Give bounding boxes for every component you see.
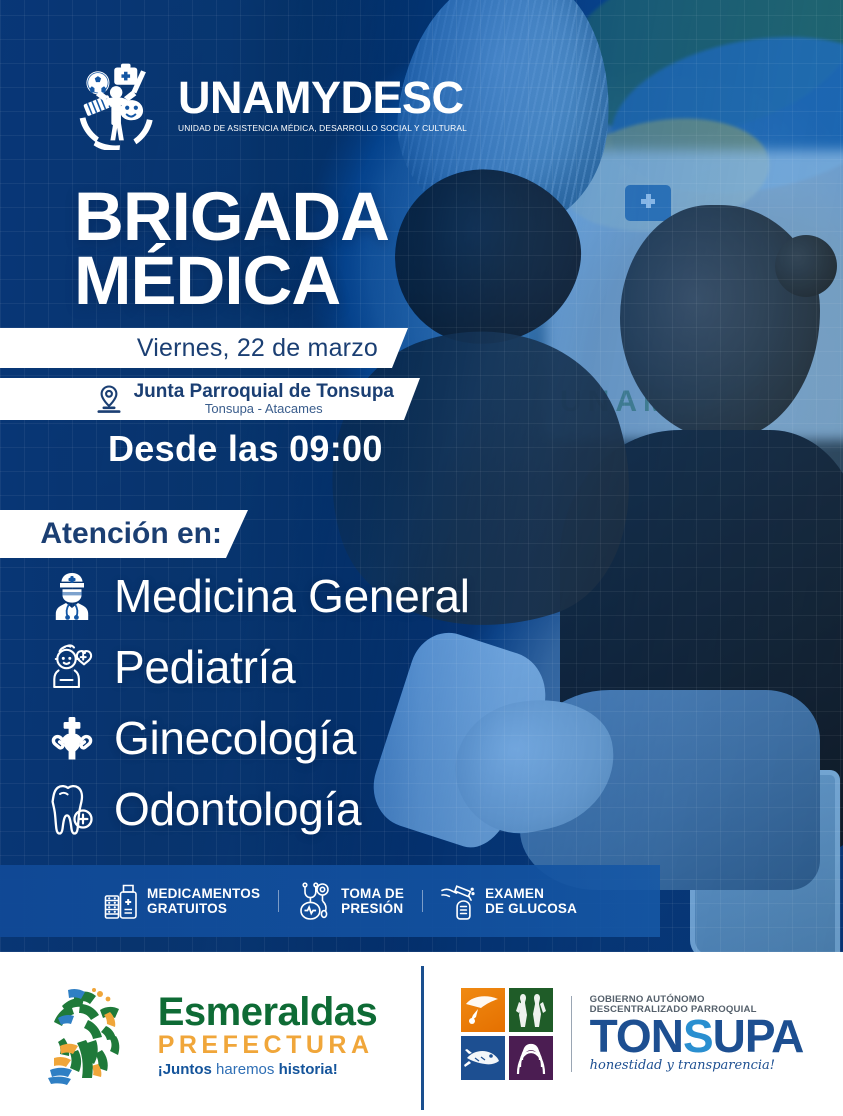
date-banner: Viernes, 22 de marzo xyxy=(0,328,408,368)
badge-examen-de-glucosa: EXAMEN DE GLUCOSA xyxy=(422,882,595,920)
badge-line-2: PRESIÓN xyxy=(341,901,404,916)
service-label: Pediatría xyxy=(114,640,295,694)
badge-line-2: DE GLUCOSA xyxy=(485,901,577,916)
glucose-test-icon xyxy=(440,882,476,920)
tonsupa-name-part2: UPA xyxy=(713,1010,804,1062)
services-list: Medicina General xyxy=(44,560,604,844)
date-text: Viernes, 22 de marzo xyxy=(137,334,378,363)
esmeraldas-subtitle: PREFECTURA xyxy=(158,1033,378,1058)
footer-logos: Esmeraldas PREFECTURA ¡Juntos haremos hi… xyxy=(0,952,843,1116)
slogan-mid: haremos xyxy=(212,1061,279,1078)
tonsupa-name-s: S xyxy=(683,1010,713,1062)
service-label: Odontología xyxy=(114,782,361,836)
service-item-medicina-general: Medicina General xyxy=(44,560,604,631)
doctor-icon xyxy=(44,571,100,621)
unamydesc-logo: UNAMYDESC UNIDAD DE ASISTENCIA MÉDICA, D… xyxy=(72,54,467,150)
tonsupa-name-part1: TON xyxy=(590,1010,683,1062)
logo-subtitle: UNIDAD DE ASISTENCIA MÉDICA, DESARROLLO … xyxy=(178,123,467,133)
page-title: BRIGADA MÉDICA xyxy=(74,185,389,313)
medicine-bottle-icon xyxy=(104,882,138,920)
badge-line-2: GRATUITOS xyxy=(147,901,260,916)
tonsupa-slogan: honestidad y transparencia! xyxy=(590,1059,804,1073)
attention-banner: Atención en: xyxy=(0,510,248,558)
badge-line-1: EXAMEN xyxy=(485,886,577,901)
poster-brigada-medica: UNAMY xyxy=(0,0,843,1116)
location-pin-icon xyxy=(96,384,122,414)
footer-divider xyxy=(421,966,424,1110)
unamydesc-emblem-icon xyxy=(72,54,168,150)
badge-toma-de-presion: TOMA DE PRESIÓN xyxy=(278,882,422,920)
service-item-odontologia: Odontología xyxy=(44,773,604,844)
service-label: Medicina General xyxy=(114,569,470,623)
esmeraldas-prefectura-logo: Esmeraldas PREFECTURA ¡Juntos haremos hi… xyxy=(0,982,421,1086)
extra-services-strip: MEDICAMENTOS GRATUITOS xyxy=(0,865,660,937)
service-label: Ginecología xyxy=(114,711,356,765)
esmeraldas-slogan: ¡Juntos haremos historia! xyxy=(158,1062,378,1077)
start-time-text: Desde las 09:00 xyxy=(108,428,383,470)
tonsupa-gad-logo: GOBIERNO AUTÓNOMO DESCENTRALIZADO PARROQ… xyxy=(421,988,843,1080)
tonsupa-quadrant-emblem-icon xyxy=(461,988,553,1080)
service-item-ginecologia: Ginecología xyxy=(44,702,604,773)
attention-label: Atención en: xyxy=(40,517,222,551)
baby-pediatrics-icon xyxy=(44,642,100,692)
slogan-bold-2: historia! xyxy=(279,1061,338,1078)
tooth-dental-icon xyxy=(44,783,100,835)
service-item-pediatria: Pediatría xyxy=(44,631,604,702)
badge-line-1: MEDICAMENTOS xyxy=(147,886,260,901)
badge-medicamentos-gratuitos: MEDICAMENTOS GRATUITOS xyxy=(86,882,278,920)
badge-line-1: TOMA DE xyxy=(341,886,404,901)
tonsupa-name: TONSUPA xyxy=(590,1015,804,1057)
logo-wordmark: UNAMYDESC xyxy=(178,77,467,120)
blood-pressure-icon xyxy=(296,882,332,920)
title-line-1: BRIGADA xyxy=(74,185,389,249)
title-line-2: MÉDICA xyxy=(74,249,389,313)
slogan-bold-1: ¡Juntos xyxy=(158,1061,212,1078)
esmeraldas-leaf-emblem-icon xyxy=(44,982,142,1086)
location-subtext: Tonsupa - Atacames xyxy=(134,402,394,416)
uterus-gynecology-icon xyxy=(44,714,100,762)
location-name: Junta Parroquial de Tonsupa xyxy=(134,382,394,402)
location-banner: Junta Parroquial de Tonsupa Tonsupa - At… xyxy=(0,378,420,420)
esmeraldas-name: Esmeraldas xyxy=(158,992,378,1032)
